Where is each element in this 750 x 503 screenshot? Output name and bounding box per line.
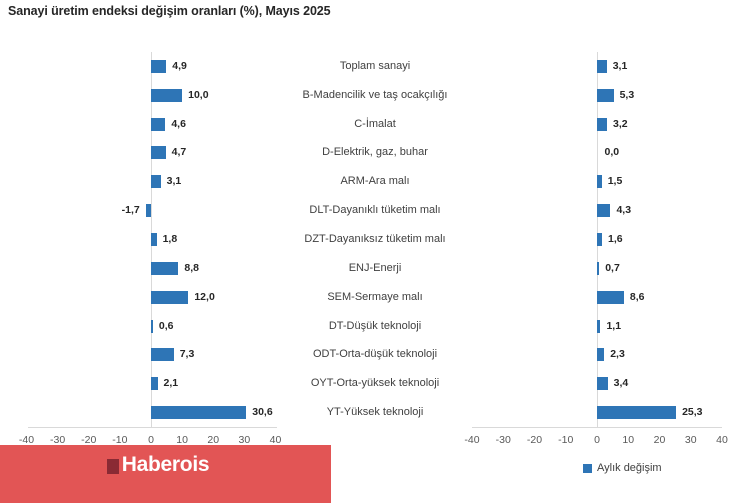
x-axis-line-left	[28, 427, 277, 428]
x-axis-tick: 0	[594, 434, 600, 446]
watermark-banner: Haberois	[0, 445, 331, 503]
legend-monthly: Aylık değişim	[583, 462, 662, 474]
x-axis-line-right	[472, 427, 722, 428]
bar	[151, 146, 166, 159]
bar	[597, 348, 604, 361]
bar-value-label: 2,3	[610, 348, 625, 361]
bar	[151, 89, 182, 102]
bar-value-label: 3,2	[613, 118, 628, 131]
bar-value-label: 8,8	[184, 262, 199, 275]
x-axis-tick: 10	[622, 434, 634, 446]
x-axis-tick: 30	[685, 434, 697, 446]
bar-value-label: 8,6	[630, 291, 645, 304]
bar-value-label: 5,3	[620, 89, 635, 102]
x-axis-tick: -30	[496, 434, 511, 446]
x-axis-tick: 20	[654, 434, 666, 446]
bar-value-label: 25,3	[682, 406, 702, 419]
chart-panel-monthly: 3,15,33,20,01,54,31,60,78,61,12,33,425,3…	[450, 52, 750, 427]
bar	[597, 262, 599, 275]
bar-value-label: 3,1	[167, 175, 182, 188]
bar-value-label: 3,4	[614, 377, 629, 390]
bar	[597, 320, 600, 333]
bar-value-label: 1,1	[606, 320, 621, 333]
chart-panel-yearly: 4,910,04,64,73,1-1,71,88,812,00,67,32,13…	[0, 52, 300, 427]
category-label: ARM-Ara malı	[285, 175, 465, 188]
bar	[151, 262, 178, 275]
bar	[151, 118, 165, 131]
bar	[597, 60, 607, 73]
bar-value-label: 0,7	[605, 262, 620, 275]
category-label: Toplam sanayi	[285, 60, 465, 73]
bar	[597, 89, 614, 102]
bar-value-label: 1,5	[608, 175, 623, 188]
bar	[151, 320, 153, 333]
bar-value-label: 10,0	[188, 89, 208, 102]
bar-value-label: 4,6	[171, 118, 186, 131]
x-axis-tick: -10	[558, 434, 573, 446]
legend-swatch-icon	[583, 464, 592, 473]
x-axis-tick: 40	[716, 434, 728, 446]
bar	[151, 175, 161, 188]
bar	[597, 118, 607, 131]
bar	[151, 291, 188, 304]
bar	[597, 204, 610, 217]
bar	[151, 348, 174, 361]
bar-value-label: 7,3	[180, 348, 195, 361]
category-label: DZT-Dayanıksız tüketim malı	[285, 233, 465, 246]
category-label: ODT-Orta-düşük teknoloji	[285, 348, 465, 361]
bar	[597, 233, 602, 246]
bar-value-label: 30,6	[252, 406, 272, 419]
bar	[151, 233, 157, 246]
legend-label-monthly: Aylık değişim	[597, 462, 662, 474]
category-label: OYT-Orta-yüksek teknoloji	[285, 377, 465, 390]
bar-value-label: 4,3	[616, 204, 631, 217]
bar-value-label: 4,7	[172, 146, 187, 159]
bar	[146, 204, 151, 217]
watermark-label: Haberois	[0, 453, 331, 477]
bar-value-label: 2,1	[164, 377, 179, 390]
category-label: SEM-Sermaye malı	[285, 291, 465, 304]
bar	[597, 406, 676, 419]
category-label: D-Elektrik, gaz, buhar	[285, 146, 465, 159]
bar-value-label: -1,7	[122, 204, 140, 217]
bar-value-label: 12,0	[194, 291, 214, 304]
category-label: ENJ-Enerji	[285, 262, 465, 275]
category-label: DLT-Dayanıklı tüketim malı	[285, 204, 465, 217]
bar-value-label: 1,6	[608, 233, 623, 246]
category-label: YT-Yüksek teknoloji	[285, 406, 465, 419]
x-axis-tick: -40	[464, 434, 479, 446]
page-title: Sanayi üretim endeksi değişim oranları (…	[8, 4, 331, 18]
bar	[597, 175, 602, 188]
bar	[151, 406, 246, 419]
category-label: C-İmalat	[285, 118, 465, 131]
plot-area-left: 4,910,04,64,73,1-1,71,88,812,00,67,32,13…	[0, 52, 300, 427]
category-label: DT-Düşük teknoloji	[285, 320, 465, 333]
bar	[151, 60, 166, 73]
bar-value-label: 1,8	[163, 233, 178, 246]
category-label: B-Madencilik ve taş ocakçılığı	[285, 89, 465, 102]
bar-value-label: 0,6	[159, 320, 174, 333]
bar	[597, 291, 624, 304]
bar-value-label: 4,9	[172, 60, 187, 73]
category-labels: Toplam sanayiB-Madencilik ve taş ocakçıl…	[285, 52, 465, 427]
bar-value-label: 0,0	[605, 146, 620, 159]
bar	[597, 377, 608, 390]
plot-area-right: 3,15,33,20,01,54,31,60,78,61,12,33,425,3	[450, 52, 750, 427]
bar-value-label: 3,1	[613, 60, 628, 73]
bar	[151, 377, 158, 390]
x-axis-tick: -20	[527, 434, 542, 446]
